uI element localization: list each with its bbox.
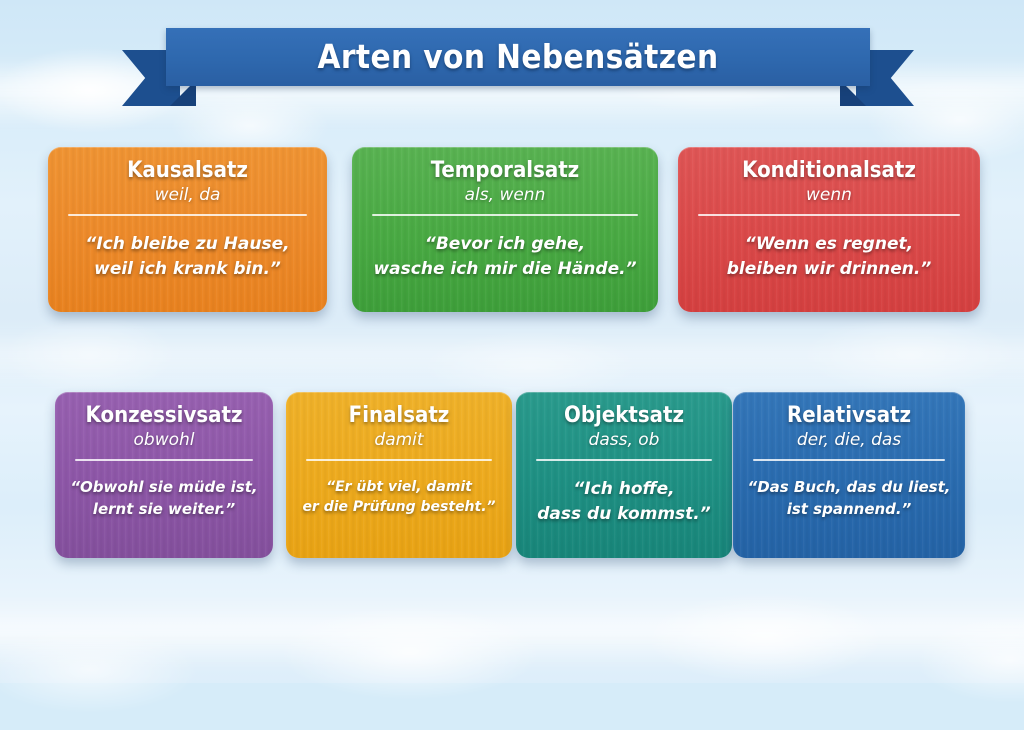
card-objektsatz[interactable]: Objektsatzdass, ob“Ich hoffe,dass du kom… <box>516 392 732 558</box>
card-temporalsatz[interactable]: Temporalsatzals, wenn“Bevor ich gehe,was… <box>352 147 658 312</box>
card-conjunctions: der, die, das <box>747 431 951 451</box>
card-finalsatz[interactable]: Finalsatzdamit“Er übt viel, damiter die … <box>286 392 512 558</box>
card-example: “Das Buch, das du liest,ist spannend.” <box>747 477 951 521</box>
card-example-line: bleiben wir drinnen.” <box>692 257 966 282</box>
card-example-line: “Ich bleibe zu Hause, <box>62 232 313 257</box>
card-conjunctions: obwohl <box>69 431 259 451</box>
card-title: Konditionalsatz <box>692 159 966 184</box>
card-divider <box>75 459 253 461</box>
cloud-puff-10 <box>0 610 240 730</box>
card-title: Relativsatz <box>747 404 951 429</box>
card-conjunctions: damit <box>300 431 498 451</box>
card-kausalsatz[interactable]: Kausalsatzweil, da“Ich bleibe zu Hause,w… <box>48 147 327 312</box>
card-divider <box>698 214 960 216</box>
card-example-line: “Das Buch, das du liest, <box>747 477 951 499</box>
card-example-line: “Obwohl sie müde ist, <box>69 477 259 499</box>
card-example: “Ich bleibe zu Hause,weil ich krank bin.… <box>62 232 313 281</box>
card-example-line: “Er übt viel, damit <box>300 477 498 497</box>
card-example: “Obwohl sie müde ist,lernt sie weiter.” <box>69 477 259 521</box>
card-conjunctions: als, wenn <box>366 186 644 206</box>
card-example-line: “Wenn es regnet, <box>692 232 966 257</box>
ribbon-band: Arten von Nebensätzen <box>166 28 870 86</box>
card-divider <box>753 459 945 461</box>
card-divider <box>68 214 307 216</box>
card-title: Finalsatz <box>300 404 498 429</box>
page-title: Arten von Nebensätzen <box>166 28 870 86</box>
card-conjunctions: dass, ob <box>530 431 718 451</box>
cloud-band-mid <box>0 330 1024 386</box>
card-example: “Wenn es regnet,bleiben wir drinnen.” <box>692 232 966 281</box>
card-konditionalsatz[interactable]: Konditionalsatzwenn“Wenn es regnet,bleib… <box>678 147 980 312</box>
card-title: Objektsatz <box>530 404 718 429</box>
card-relativsatz[interactable]: Relativsatzder, die, das“Das Buch, das d… <box>733 392 965 558</box>
card-example-line: wasche ich mir die Hände.” <box>366 257 644 282</box>
cloud-puff-8 <box>230 588 590 718</box>
title-banner: Arten von Nebensätzen <box>118 28 918 110</box>
card-example-line: ist spannend.” <box>747 499 951 521</box>
card-example: “Er übt viel, damiter die Prüfung besteh… <box>300 477 498 518</box>
card-divider <box>536 459 712 461</box>
card-conjunctions: wenn <box>692 186 966 206</box>
card-divider <box>372 214 638 216</box>
card-example-line: er die Prüfung besteht.” <box>300 497 498 517</box>
card-title: Konzessivsatz <box>69 404 259 429</box>
card-example-line: dass du kommst.” <box>530 502 718 527</box>
card-divider <box>306 459 492 461</box>
card-example-line: “Bevor ich gehe, <box>366 232 644 257</box>
cloud-puff-9 <box>600 575 930 700</box>
card-example-line: weil ich krank bin.” <box>62 257 313 282</box>
cloud-band-lower <box>0 598 1024 668</box>
card-example-line: “Ich hoffe, <box>530 477 718 502</box>
card-title: Kausalsatz <box>62 159 313 184</box>
card-konzessivsatz[interactable]: Konzessivsatzobwohl“Obwohl sie müde ist,… <box>55 392 273 558</box>
card-title: Temporalsatz <box>366 159 644 184</box>
card-example: “Ich hoffe,dass du kommst.” <box>530 477 718 526</box>
card-conjunctions: weil, da <box>62 186 313 206</box>
card-example-line: lernt sie weiter.” <box>69 499 259 521</box>
card-example: “Bevor ich gehe,wasche ich mir die Hände… <box>366 232 644 281</box>
cloud-puff-11 <box>880 600 1024 720</box>
